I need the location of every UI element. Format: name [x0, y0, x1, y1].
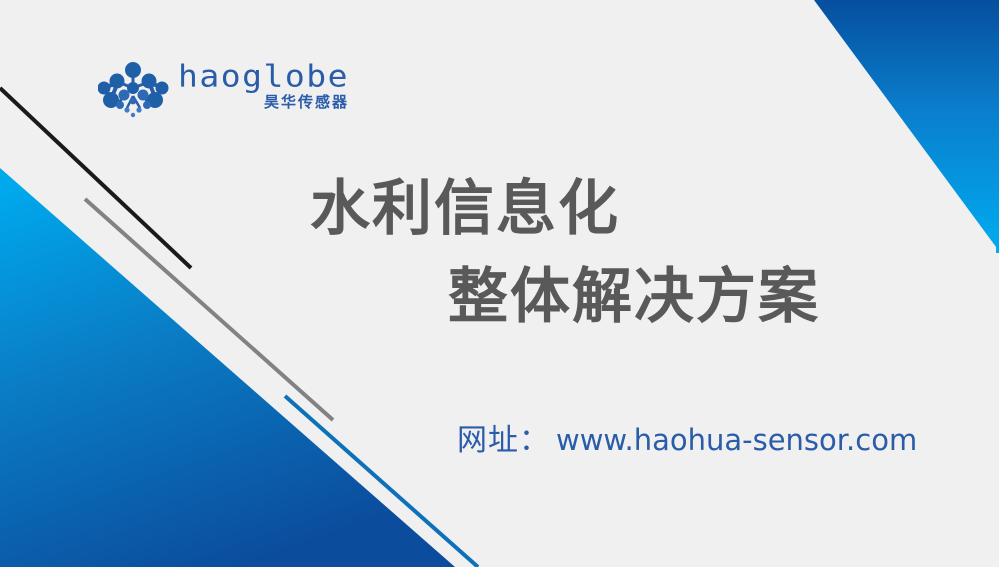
company-logo: haoglobe 昊华传感器	[98, 58, 349, 120]
page-title: 水利信息化 整体解决方案	[310, 165, 910, 341]
presentation-title-slide: haoglobe 昊华传感器 水利信息化 整体解决方案 网址： www.haoh…	[0, 0, 999, 567]
website-label: 网址：	[457, 421, 550, 461]
gray-diagonal-line	[85, 199, 333, 420]
logo-sub-wordmark: 昊华传感器	[264, 93, 349, 111]
website-line: 网址： www.haohua-sensor.com	[457, 420, 917, 461]
page-title-line-2: 整体解决方案	[310, 253, 910, 341]
logo-wordmark: haoglobe	[178, 61, 349, 92]
website-url[interactable]: www.haohua-sensor.com	[556, 420, 917, 460]
logo-text-block: haoglobe 昊华传感器	[178, 58, 349, 111]
blue-diagonal-line	[285, 396, 478, 567]
haoglobe-molecule-logo-icon	[98, 62, 170, 120]
page-title-line-1: 水利信息化	[310, 165, 910, 253]
